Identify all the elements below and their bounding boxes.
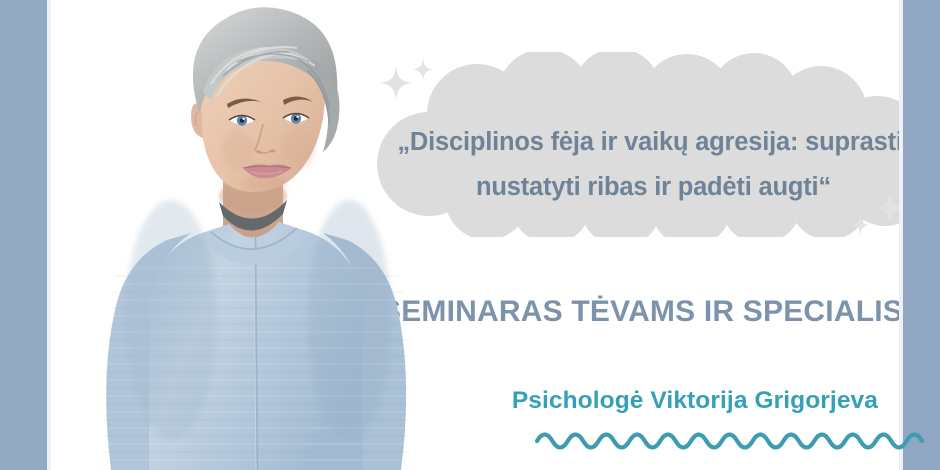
sparkle-icon [852, 215, 869, 235]
seminar-title: „Disciplinos fėja ir vaikų agresija: sup… [381, 120, 899, 210]
promo-poster: „Disciplinos fėja ir vaikų agresija: sup… [0, 0, 940, 470]
title-line-1: „Disciplinos fėja ir vaikų agresija: sup… [381, 120, 899, 165]
right-accent-bar [903, 0, 940, 470]
title-line-2: nustatyti ribas ir padėti augti“ [381, 165, 899, 210]
left-accent-bar [0, 0, 47, 470]
wavy-underline-decoration [535, 421, 935, 451]
seminar-subtitle: SEMINARAS TĖVAMS IR SPECIALISTAMS [381, 295, 899, 329]
presenter-name: Psichologė Viktorija Grigorjeva [330, 387, 890, 415]
left-accent-bar-edge [47, 0, 51, 470]
